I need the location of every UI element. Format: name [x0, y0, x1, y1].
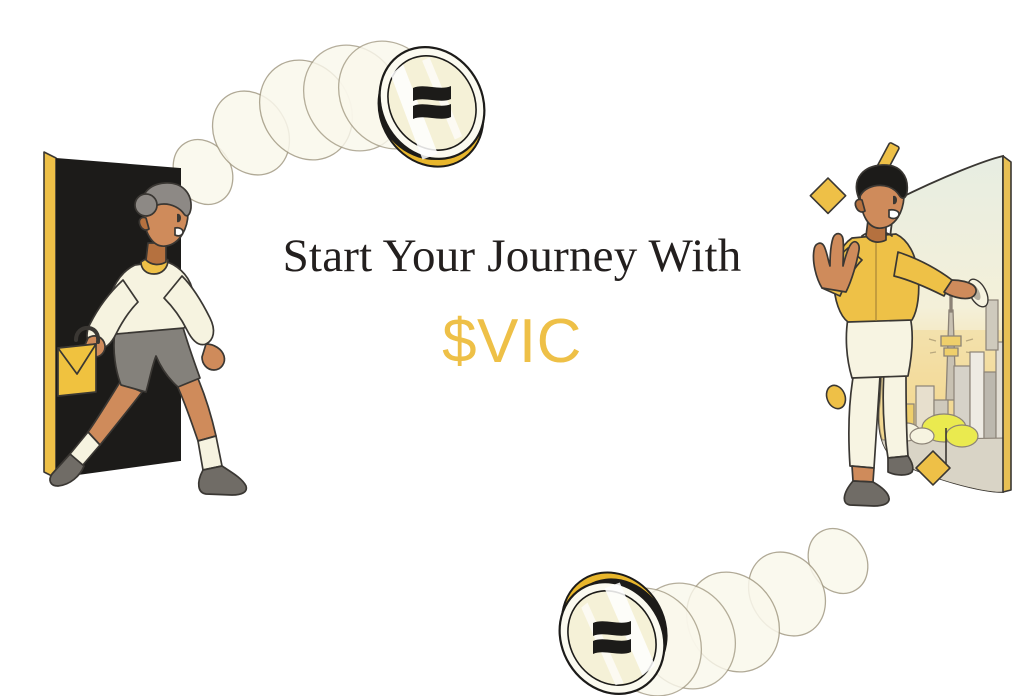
coin-bottom-group: [0, 0, 1024, 696]
hero-banner: Start Your Journey With $VIC: [0, 0, 1024, 696]
